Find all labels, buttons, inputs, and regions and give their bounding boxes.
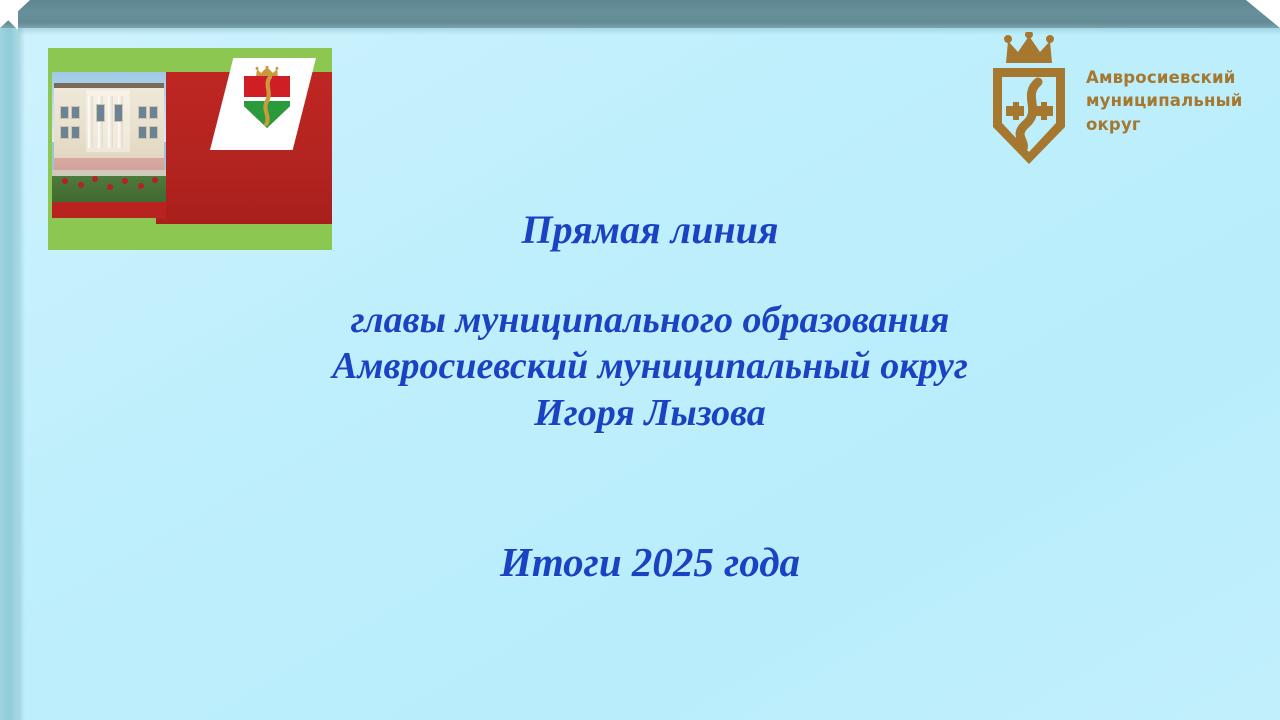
title-line-direct-line: Прямая линия	[150, 208, 1150, 253]
photo-window	[149, 126, 158, 139]
photo-column	[88, 96, 93, 148]
photo-window	[60, 106, 69, 119]
photo-building-roof	[54, 83, 164, 88]
slide-title-block: Прямая линия главы муниципального образо…	[150, 208, 1150, 587]
photo-bottom-band	[52, 202, 166, 218]
municipality-logo: Амвросиевский муниципальный округ	[986, 32, 1248, 168]
administration-building-photo	[52, 72, 166, 218]
river-s-charge-icon	[261, 76, 274, 126]
district-coat-of-arms-color	[244, 66, 290, 128]
photo-flower	[122, 178, 128, 184]
wordmark-line-3: округ	[1086, 113, 1243, 136]
wordmark-line-1: Амвросиевский	[1086, 66, 1243, 89]
photo-flower	[138, 183, 144, 189]
title-line-year-results: Итоги 2025 года	[150, 538, 1150, 587]
photo-window	[149, 106, 158, 119]
municipality-wordmark: Амвросиевский муниципальный округ	[1086, 66, 1243, 136]
photo-column	[108, 96, 113, 148]
photo-window	[60, 126, 69, 139]
slide-frame-left-shadow	[18, 28, 25, 720]
photo-flower	[152, 177, 158, 183]
slide-frame-left-bevel	[0, 0, 18, 720]
photo-flower	[62, 178, 68, 184]
photo-flower	[78, 182, 84, 188]
photo-window	[71, 106, 80, 119]
photo-window	[71, 126, 80, 139]
photo-flower	[107, 184, 113, 190]
photo-window	[138, 126, 147, 139]
shield-crown-emblem-icon	[986, 32, 1072, 168]
title-line-district-name: Амвросиевский муниципальный округ	[150, 343, 1150, 389]
photo-window	[114, 104, 123, 122]
title-line-person-name: Игоря Лызова	[150, 390, 1150, 436]
photo-window	[96, 104, 105, 122]
shield-field	[244, 76, 290, 128]
wordmark-line-2: муниципальный	[1086, 89, 1243, 112]
photo-window	[138, 106, 147, 119]
title-line-head-of-municipality: главы муниципального образования	[150, 297, 1150, 343]
presentation-slide: Амвросиевский муниципальный округ Прямая…	[0, 0, 1280, 720]
slide-frame-top-bevel	[0, 0, 1280, 28]
photo-flower	[92, 176, 98, 182]
